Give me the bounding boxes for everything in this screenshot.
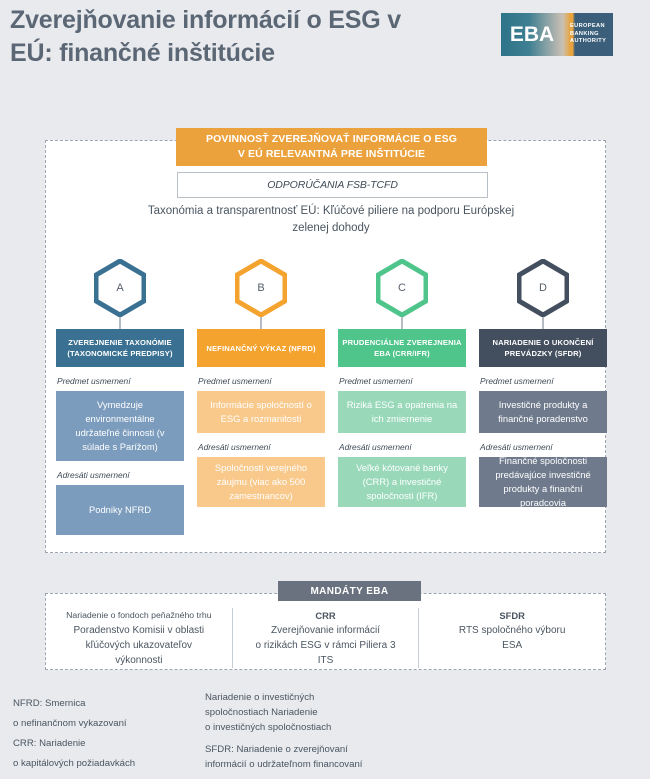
mandate-2-line-3: o rizikách ESG v rámci Piliera 3 [239, 638, 413, 653]
pillar-a-addressee-label: Adresáti usmernení [56, 470, 184, 481]
hexagon-d-icon: D [517, 259, 569, 317]
pillar-column-d: D NARIADENIE O UKONČENÍ PREVÁDZKY (SFDR)… [479, 259, 607, 507]
pillar-b-stem [260, 317, 262, 329]
page-title: Zverejňovanie informácií o ESG v EÚ: fin… [10, 4, 430, 70]
hexagon-a-letter: A [116, 282, 123, 294]
legend-left-line-3: CRR: Nariadenie [13, 734, 198, 754]
pillar-column-c: C PRUDENCIÁLNE ZVEREJNENIA EBA (CRR/IFR)… [338, 259, 466, 507]
legend-left-line-1: NFRD: Smernica [13, 694, 198, 714]
pillar-a-stem [119, 317, 121, 329]
mandate-2-line-1: CRR [239, 608, 413, 623]
legend-right-b1-line-1: Nariadenie o investičných [205, 690, 465, 705]
hexagon-b-letter: B [257, 282, 264, 294]
legend-right-b1-line-3: o investičných spoločnostiach [205, 720, 465, 735]
hexagon-c-icon: C [376, 259, 428, 317]
pillar-column-a: A ZVEREJNENIE TAXONÓMIE (TAXONOMICKÉ PRE… [56, 259, 184, 535]
pillar-d-hex-wrap: D [479, 259, 607, 317]
eba-logo: EBA EUROPEAN BANKING AUTHORITY [501, 13, 613, 56]
main-diagram-panel: POVINNOSŤ ZVEREJŇOVAŤ INFORMÁCIE O ESG V… [45, 140, 606, 553]
mandate-1-line-3: kľúčových ukazovateľov [52, 638, 226, 653]
pillar-a-subject-label: Predmet usmernení [56, 376, 184, 387]
pillar-column-b: B NEFINANČNÝ VÝKAZ (NFRD) Predmet usmern… [197, 259, 325, 507]
mandate-2-line-4: ITS [239, 653, 413, 668]
eba-logo-text: EUROPEAN BANKING AUTHORITY [563, 13, 613, 56]
pillar-b-hex-wrap: B [197, 259, 325, 317]
pillar-b-subject-label: Predmet usmernení [197, 376, 325, 387]
pillar-d-stem [542, 317, 544, 329]
pillar-a-hex-wrap: A [56, 259, 184, 317]
pillar-c-addressee-box[interactable]: Veľké kótované banky (CRR) a investičné … [338, 457, 466, 507]
legend-right-b2-line-1: SFDR: Nariadenie o zverejňovaní [205, 742, 465, 757]
eba-logo-line-3: AUTHORITY [570, 38, 613, 46]
pillar-b-addressee-box[interactable]: Spoločnosti verejného záujmu (viac ako 5… [197, 457, 325, 507]
obligation-banner: POVINNOSŤ ZVEREJŇOVAŤ INFORMÁCIE O ESG V… [176, 128, 487, 166]
hexagon-d-letter: D [539, 282, 547, 294]
mandates-tag: MANDÁTY EBA [278, 581, 421, 601]
pillar-d-header[interactable]: NARIADENIE O UKONČENÍ PREVÁDZKY (SFDR) [479, 329, 607, 367]
legend-right-b2-line-2: informácií o udržateľnom financovaní [205, 757, 465, 772]
pillar-b-subject-box[interactable]: Informácie spoločností o ESG a rozmanito… [197, 391, 325, 433]
mandate-item-2[interactable]: CRR Zverejňovanie informácií o rizikách … [232, 608, 419, 668]
mandate-1-line-1: Nariadenie o fondoch peňažného trhu [52, 608, 226, 623]
pillar-c-addressee-label: Adresáti usmernení [338, 442, 466, 453]
pillar-a-subject-box[interactable]: Vymedzuje environmentálne udržateľné čin… [56, 391, 184, 461]
eba-logo-mark: EBA [501, 13, 563, 56]
eba-logo-line-1: EUROPEAN [570, 23, 613, 31]
legend-left-line-4: o kapitálových požiadavkách [13, 754, 198, 774]
pillar-b-header[interactable]: NEFINANČNÝ VÝKAZ (NFRD) [197, 329, 325, 367]
mandate-1-line-4: výkonnosti [52, 653, 226, 668]
pillar-d-addressee-box[interactable]: Finančné spoločnosti predávajúce investi… [479, 457, 607, 507]
pillar-a-addressee-box[interactable]: Podniky NFRD [56, 485, 184, 535]
legend-right-block-2: SFDR: Nariadenie o zverejňovaní informác… [205, 742, 465, 772]
mandate-3-line-3: ESA [425, 638, 599, 653]
pillar-c-subject-label: Predmet usmernení [338, 376, 466, 387]
pillar-d-addressee-label: Adresáti usmernení [479, 442, 607, 453]
pillar-c-subject-box[interactable]: Riziká ESG a opatrenia na ich zmiernenie [338, 391, 466, 433]
mandate-3-line-1: SFDR [425, 608, 599, 623]
pillar-a-header[interactable]: ZVEREJNENIE TAXONÓMIE (TAXONOMICKÉ PREDP… [56, 329, 184, 367]
pillar-c-hex-wrap: C [338, 259, 466, 317]
mandates-panel: MANDÁTY EBA Nariadenie o fondoch peňažné… [45, 593, 606, 670]
mandate-1-line-2: Poradenstvo Komisii v oblasti [52, 623, 226, 638]
legend-left-line-2: o nefinančnom vykazovaní [13, 714, 198, 734]
mandate-item-1[interactable]: Nariadenie o fondoch peňažného trhu Pora… [46, 608, 232, 668]
mandate-3-line-2: RTS spoločného výboru [425, 623, 599, 638]
mandate-item-3[interactable]: SFDR RTS spoločného výboru ESA [418, 608, 605, 668]
obligation-banner-line-2: V EÚ RELEVANTNÁ PRE INŠTITÚCIE [238, 147, 425, 162]
pillar-c-header[interactable]: PRUDENCIÁLNE ZVEREJNENIA EBA (CRR/IFR) [338, 329, 466, 367]
legend-left: NFRD: Smernica o nefinančnom vykazovaní … [13, 694, 198, 774]
pillar-d-subject-box[interactable]: Investičné produkty a finančné poradenst… [479, 391, 607, 433]
hexagon-c-letter: C [398, 282, 406, 294]
eba-logo-line-2: BANKING [570, 31, 613, 39]
pillar-b-addressee-label: Adresáti usmernení [197, 442, 325, 453]
legend-right-block-1: Nariadenie o investičných spoločnostiach… [205, 690, 465, 735]
mandate-2-line-2: Zverejňovanie informácií [239, 623, 413, 638]
pillar-d-subject-label: Predmet usmernení [479, 376, 607, 387]
page-header: Zverejňovanie informácií o ESG v EÚ: fin… [0, 0, 650, 118]
legend-right-b1-line-2: spoločnostiach Nariadenie [205, 705, 465, 720]
hexagon-b-icon: B [235, 259, 287, 317]
mandates-columns: Nariadenie o fondoch peňažného trhu Pora… [46, 608, 605, 668]
obligation-banner-line-1: POVINNOSŤ ZVEREJŇOVAŤ INFORMÁCIE O ESG [206, 132, 457, 147]
tcfd-box: ODPORÚČANIA FSB-TCFD [177, 172, 488, 198]
hexagon-a-icon: A [94, 259, 146, 317]
subheading-text: Taxonómia a transparentnosť EÚ: Kľúčové … [131, 203, 531, 237]
pillar-c-stem [401, 317, 403, 329]
